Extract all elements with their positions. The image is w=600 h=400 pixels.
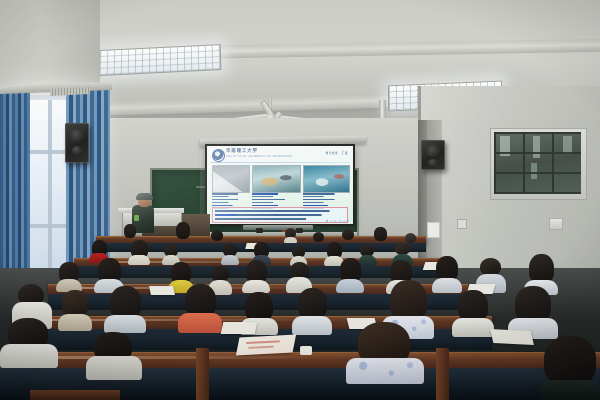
light-switch-right[interactable] — [549, 218, 563, 230]
student — [162, 244, 180, 264]
student — [58, 290, 92, 330]
speaker-cone — [428, 159, 438, 166]
window-security-grille — [494, 132, 581, 194]
door-notice-paper — [427, 222, 440, 238]
speaker-cone — [70, 129, 84, 142]
student — [104, 286, 146, 332]
screen-clip — [296, 228, 303, 233]
student — [346, 322, 424, 382]
screen-clip — [256, 228, 263, 233]
student — [128, 240, 150, 264]
paper-on-desk — [149, 286, 175, 295]
light-switch-left[interactable] — [457, 219, 467, 229]
tissue-on-desk — [300, 346, 312, 355]
student — [242, 260, 270, 292]
student — [210, 230, 224, 242]
bench-seat-front — [30, 390, 120, 400]
student — [452, 290, 494, 336]
student — [432, 256, 462, 292]
lecturer-badge — [134, 215, 139, 221]
student — [336, 258, 364, 292]
lecturer-cap — [136, 193, 153, 200]
student — [221, 244, 239, 264]
student — [86, 332, 142, 378]
paper-on-desk-front — [236, 335, 296, 356]
paper-on-desk-front — [490, 329, 534, 345]
speaker-cone — [72, 146, 82, 155]
student — [56, 262, 82, 290]
student — [0, 318, 58, 366]
bench-divider — [436, 348, 449, 400]
student — [373, 227, 388, 242]
speaker-cone — [426, 145, 440, 157]
bench-divider — [196, 348, 209, 400]
student — [292, 288, 332, 334]
lecture-hall-photo: 华南理工大学 SOUTH CHINA UNIVERSITY OF TECHNOL… — [0, 0, 600, 400]
student — [174, 222, 192, 240]
wall-speaker-left — [65, 123, 89, 163]
student — [540, 336, 600, 400]
student — [284, 228, 297, 241]
student — [122, 224, 138, 240]
screen-glare — [207, 146, 353, 224]
light-diffuser-grid — [100, 45, 221, 75]
student — [178, 284, 222, 332]
projected-slide: 华南理工大学 SOUTH CHINA UNIVERSITY OF TECHNOL… — [207, 146, 353, 224]
projection-screen: 华南理工大学 SOUTH CHINA UNIVERSITY OF TECHNOL… — [205, 144, 355, 226]
paper-on-desk — [221, 322, 258, 334]
wall-speaker-right — [421, 140, 445, 170]
student — [341, 229, 355, 243]
